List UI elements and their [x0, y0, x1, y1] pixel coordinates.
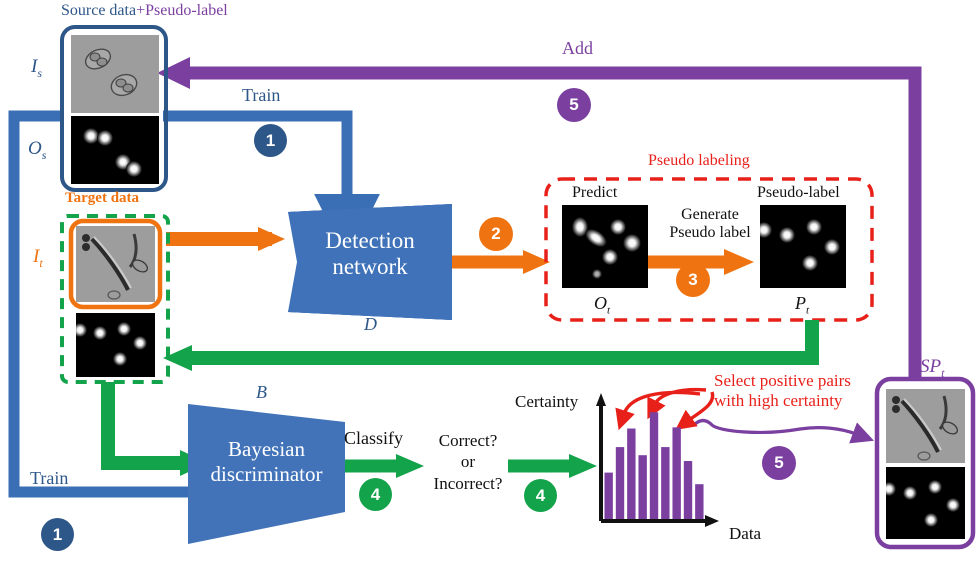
- chart-bar: [672, 427, 680, 519]
- pseudo-label-symbol-main: P: [795, 293, 806, 313]
- chart-bar: [661, 447, 669, 519]
- source-data-title-suffix: +Pseudo-label: [136, 2, 228, 19]
- step-badge-1-bottom[interactable]: 1: [41, 518, 74, 551]
- chart-bar: [616, 447, 624, 519]
- chart-bar: [604, 473, 612, 519]
- step-badge-4-left[interactable]: 4: [359, 478, 392, 511]
- source-image-symbol-sub: s: [37, 66, 42, 80]
- predict-output-symbol-main: O: [594, 293, 607, 313]
- bayesian-discriminator-symbol: B: [256, 382, 267, 403]
- source-image-symbol: Is: [31, 56, 42, 81]
- selected-phase-image: [886, 389, 965, 463]
- selected-pairs-symbol: SPt: [920, 356, 944, 381]
- step-badge-2-label: 2: [491, 224, 500, 244]
- bayesian-discriminator-label: Bayesian discriminator: [188, 437, 345, 487]
- target-phase-image: [76, 226, 155, 302]
- add-label: Add: [562, 38, 593, 59]
- detection-network-line2: network: [288, 254, 452, 280]
- pseudo-label-heatmap-image: [760, 205, 846, 288]
- source-data-title-main: Source data: [61, 2, 136, 19]
- classify-label: Classify: [344, 428, 403, 449]
- pseudo-labeling-title: Pseudo labeling: [648, 152, 750, 170]
- source-output-symbol: Os: [28, 138, 46, 163]
- chart-bar: [650, 412, 658, 519]
- pseudo-label-symbol: Pt: [795, 293, 809, 317]
- step-badge-5-bottom-label: 5: [774, 453, 783, 473]
- arrow-pseudo-to-target: [163, 320, 812, 371]
- figure-canvas: Source data+Pseudo-label Is Os Target da…: [0, 0, 978, 564]
- target-image-symbol-sub: t: [39, 256, 42, 270]
- detection-network-symbol: D: [364, 314, 377, 335]
- discriminator-line2: discriminator: [188, 462, 345, 487]
- chart-xlabel: Data: [729, 524, 761, 544]
- train-top-label: Train: [242, 85, 280, 106]
- generate-pseudo-label-text: Generate Pseudo label: [655, 206, 765, 243]
- arrow-select-to-sp: [694, 421, 856, 435]
- selected-pairs-symbol-sub: t: [941, 366, 944, 380]
- arrow-target-to-detection: [166, 227, 285, 251]
- predict-heatmap-image: [562, 205, 648, 288]
- step-badge-5-bottom[interactable]: 5: [762, 446, 796, 480]
- arrow-classify: [345, 454, 424, 478]
- source-heatmap-image: [71, 116, 159, 184]
- arrow-detection-to-predict: [452, 250, 550, 274]
- train-bottom-label: Train: [30, 468, 68, 489]
- chart-bar: [695, 484, 703, 519]
- chart-bars: [604, 412, 703, 519]
- generate-line1: Generate: [655, 206, 765, 224]
- arrow-train-to-detection: [163, 116, 347, 196]
- correct-incorrect-label: Correct? or Incorrect?: [422, 430, 514, 494]
- step-badge-4-left-label: 4: [371, 485, 380, 505]
- select-line1: Select positive pairs: [714, 371, 851, 391]
- step-badge-1-top-label: 1: [266, 131, 275, 151]
- step-badge-1-top[interactable]: 1: [254, 124, 287, 157]
- target-image-symbol: It: [33, 246, 43, 271]
- selected-pairs-symbol-main: SP: [920, 356, 941, 377]
- pseudo-label-caption: Pseudo-label: [757, 184, 840, 202]
- chart-bar: [627, 429, 635, 519]
- question-line2: or: [422, 451, 514, 472]
- detection-network-label: Detection network: [288, 228, 452, 281]
- select-positive-pairs-label: Select positive pairs with high certaint…: [714, 371, 851, 412]
- predict-output-symbol: Ot: [594, 293, 610, 317]
- step-badge-3-label: 3: [688, 270, 697, 290]
- predict-label: Predict: [572, 184, 617, 202]
- select-line2: with high certainty: [714, 391, 851, 411]
- question-line1: Correct?: [422, 430, 514, 451]
- generate-line2: Pseudo label: [655, 224, 765, 242]
- target-data-title: Target data: [65, 190, 139, 207]
- step-badge-1-bottom-label: 1: [53, 525, 62, 545]
- source-data-title: Source data+Pseudo-label: [61, 2, 228, 20]
- pseudo-label-symbol-sub: t: [806, 305, 809, 317]
- detection-network-line1: Detection: [288, 228, 452, 254]
- step-badge-2[interactable]: 2: [479, 217, 513, 251]
- step-badge-3[interactable]: 3: [676, 263, 710, 297]
- question-line3: Incorrect?: [422, 473, 514, 494]
- chart-bar: [684, 461, 692, 519]
- predict-output-symbol-sub: t: [607, 305, 610, 317]
- step-badge-4-right[interactable]: 4: [524, 479, 557, 512]
- chart-bar: [638, 455, 646, 519]
- discriminator-line1: Bayesian: [188, 437, 345, 462]
- source-phase-image: [71, 35, 159, 113]
- chart-ylabel: Certainty: [515, 392, 578, 412]
- step-badge-5-top[interactable]: 5: [557, 88, 591, 122]
- source-output-symbol-sub: s: [42, 148, 47, 162]
- selected-heatmap-image: [886, 467, 965, 539]
- source-output-symbol-main: O: [28, 138, 42, 159]
- target-heatmap-image: [76, 313, 155, 377]
- red-selection-arrows: [624, 390, 713, 420]
- step-badge-4-right-label: 4: [536, 486, 545, 506]
- step-badge-5-top-label: 5: [569, 95, 578, 115]
- arrow-to-histogram: [508, 454, 597, 478]
